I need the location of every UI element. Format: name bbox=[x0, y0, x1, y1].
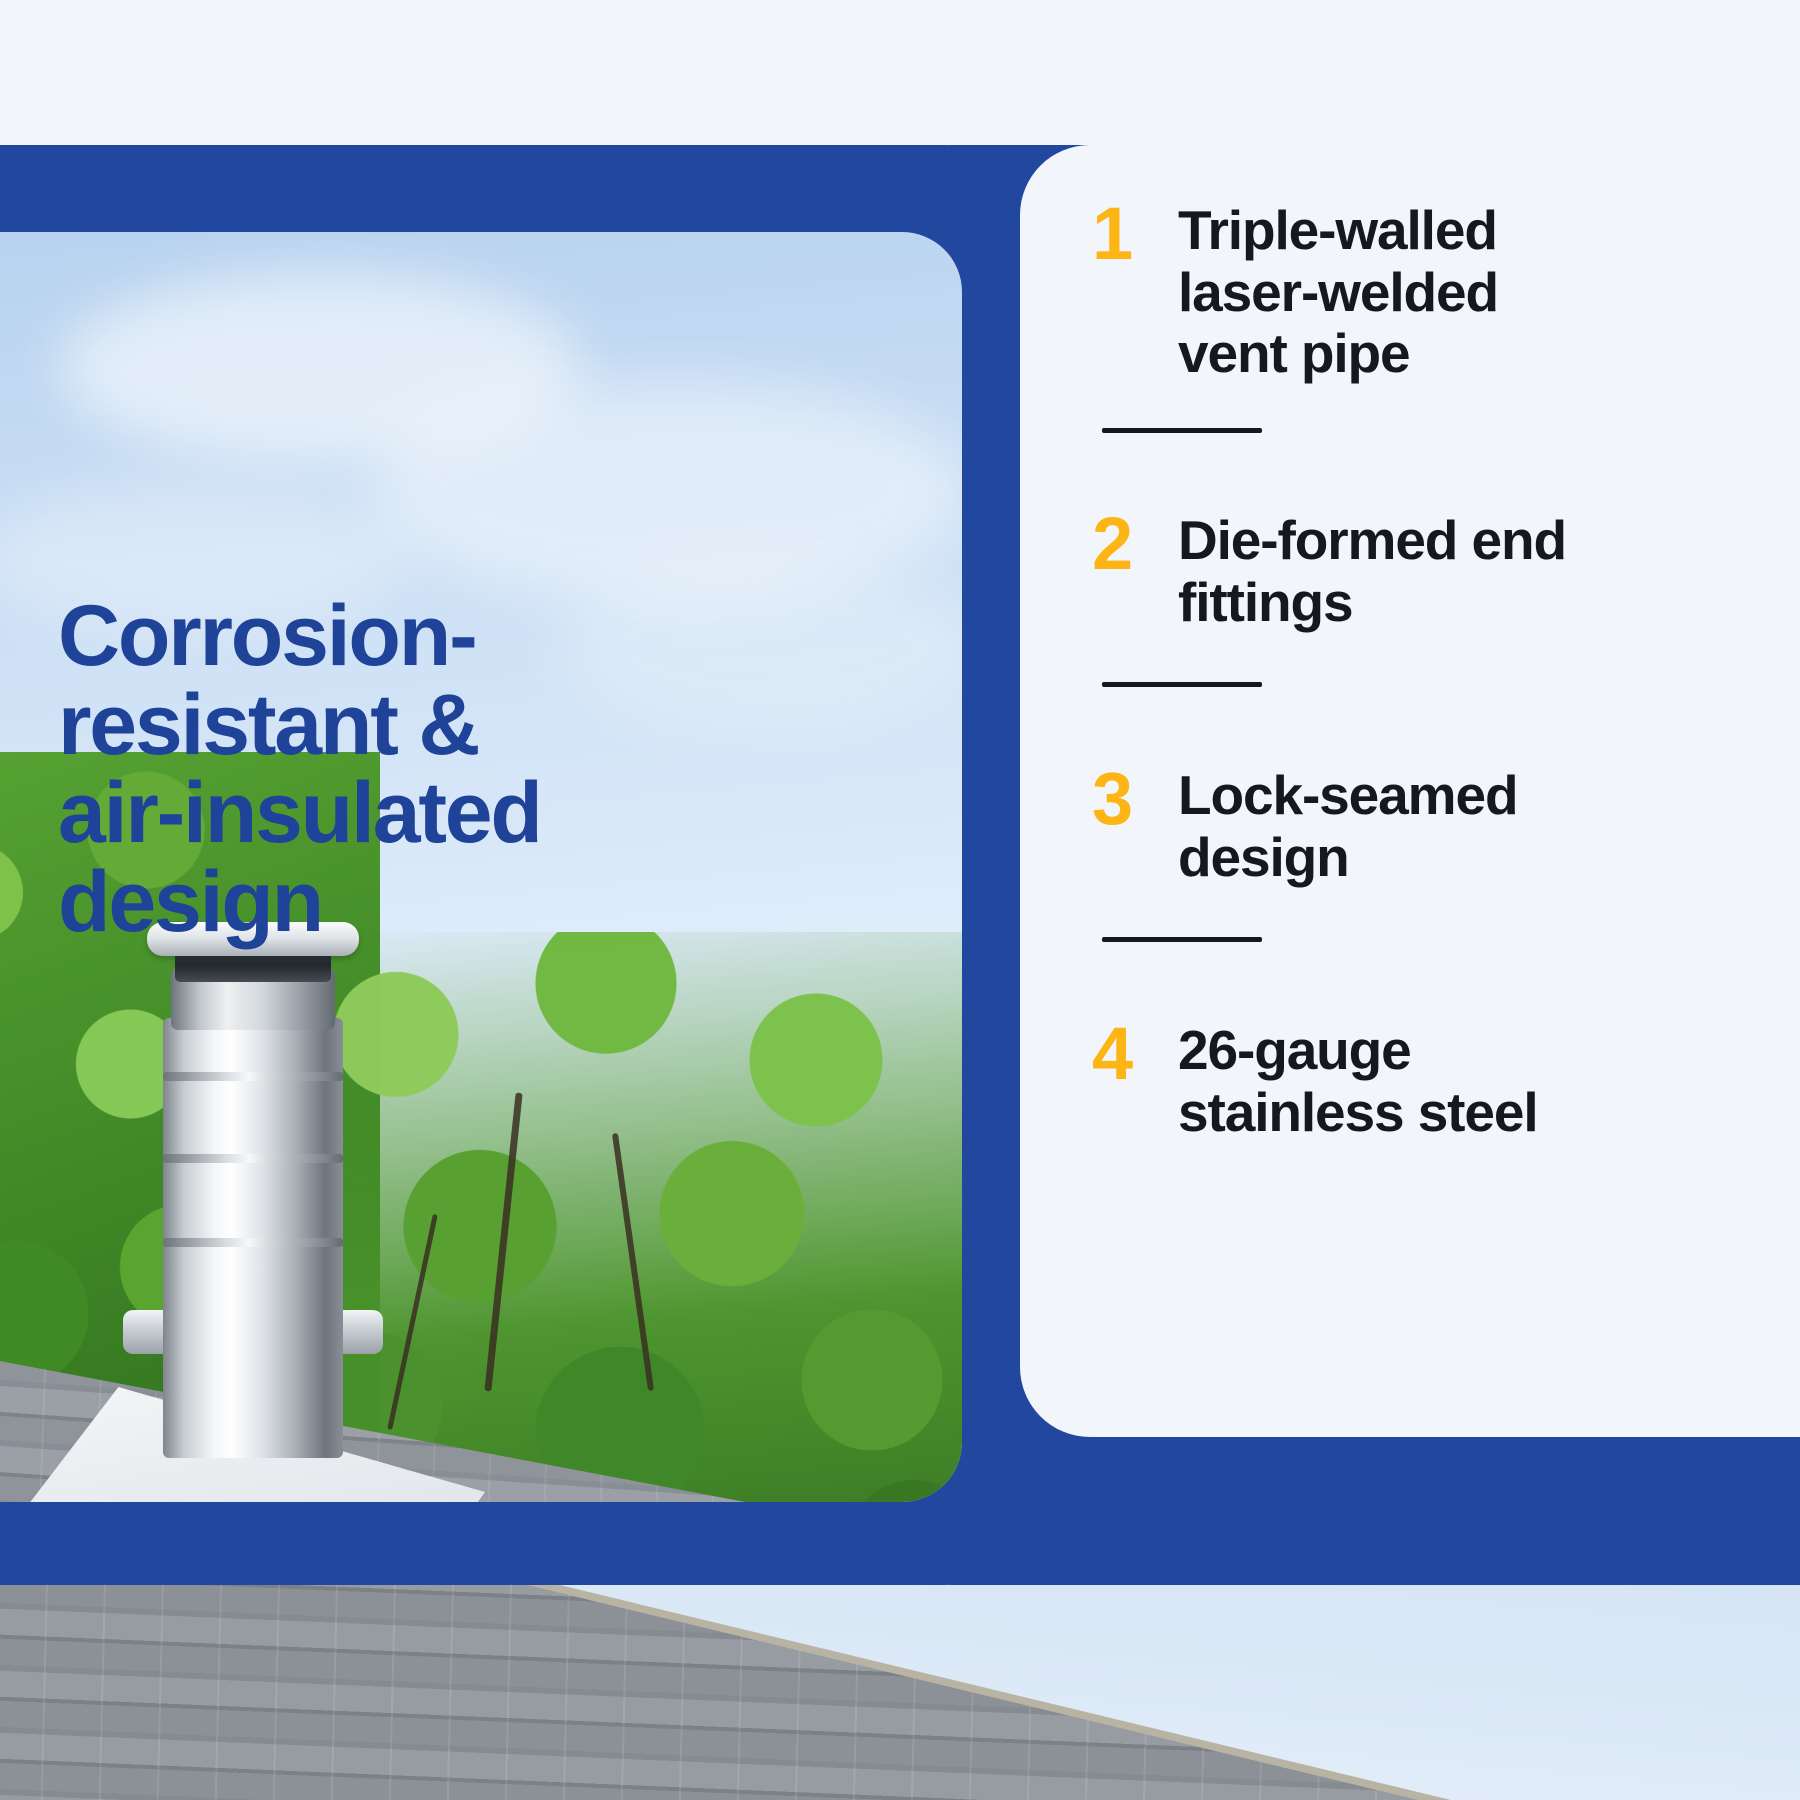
feature-divider-1 bbox=[1102, 428, 1262, 433]
feature-number-2: 2 bbox=[1092, 510, 1178, 578]
hero-photo: Corrosion- resistant & air-insulated des… bbox=[0, 232, 962, 1502]
feature-number-3: 3 bbox=[1092, 765, 1178, 833]
features-panel: 1 Triple-walled laser-welded vent pipe 2… bbox=[1020, 145, 1800, 1437]
vent-seam bbox=[163, 1238, 343, 1247]
feature-label-3: Lock-seamed design bbox=[1178, 765, 1517, 888]
cloud-icon bbox=[370, 382, 962, 602]
feature-divider-2 bbox=[1102, 682, 1262, 687]
feature-item-3[interactable]: 3 Lock-seamed design bbox=[1092, 765, 1517, 888]
feature-label-1: Triple-walled laser-welded vent pipe bbox=[1178, 200, 1498, 385]
chimney-vent-pipe bbox=[145, 922, 360, 1502]
vent-seam bbox=[163, 1072, 343, 1081]
feature-label-2: Die-formed end fittings bbox=[1178, 510, 1566, 633]
vent-seam bbox=[163, 1154, 343, 1163]
feature-number-4: 4 bbox=[1092, 1020, 1178, 1088]
feature-item-2[interactable]: 2 Die-formed end fittings bbox=[1092, 510, 1566, 633]
feature-label-4: 26-gauge stainless steel bbox=[1178, 1020, 1538, 1143]
feature-number-1: 1 bbox=[1092, 200, 1178, 268]
tree-foliage-right bbox=[270, 932, 962, 1502]
feature-item-4[interactable]: 4 26-gauge stainless steel bbox=[1092, 1020, 1538, 1143]
feature-divider-3 bbox=[1102, 937, 1262, 942]
feature-item-1[interactable]: 1 Triple-walled laser-welded vent pipe bbox=[1092, 200, 1498, 385]
page-title: Corrosion- resistant & air-insulated des… bbox=[58, 592, 758, 946]
infographic-canvas: Corrosion- resistant & air-insulated des… bbox=[0, 0, 1800, 1800]
